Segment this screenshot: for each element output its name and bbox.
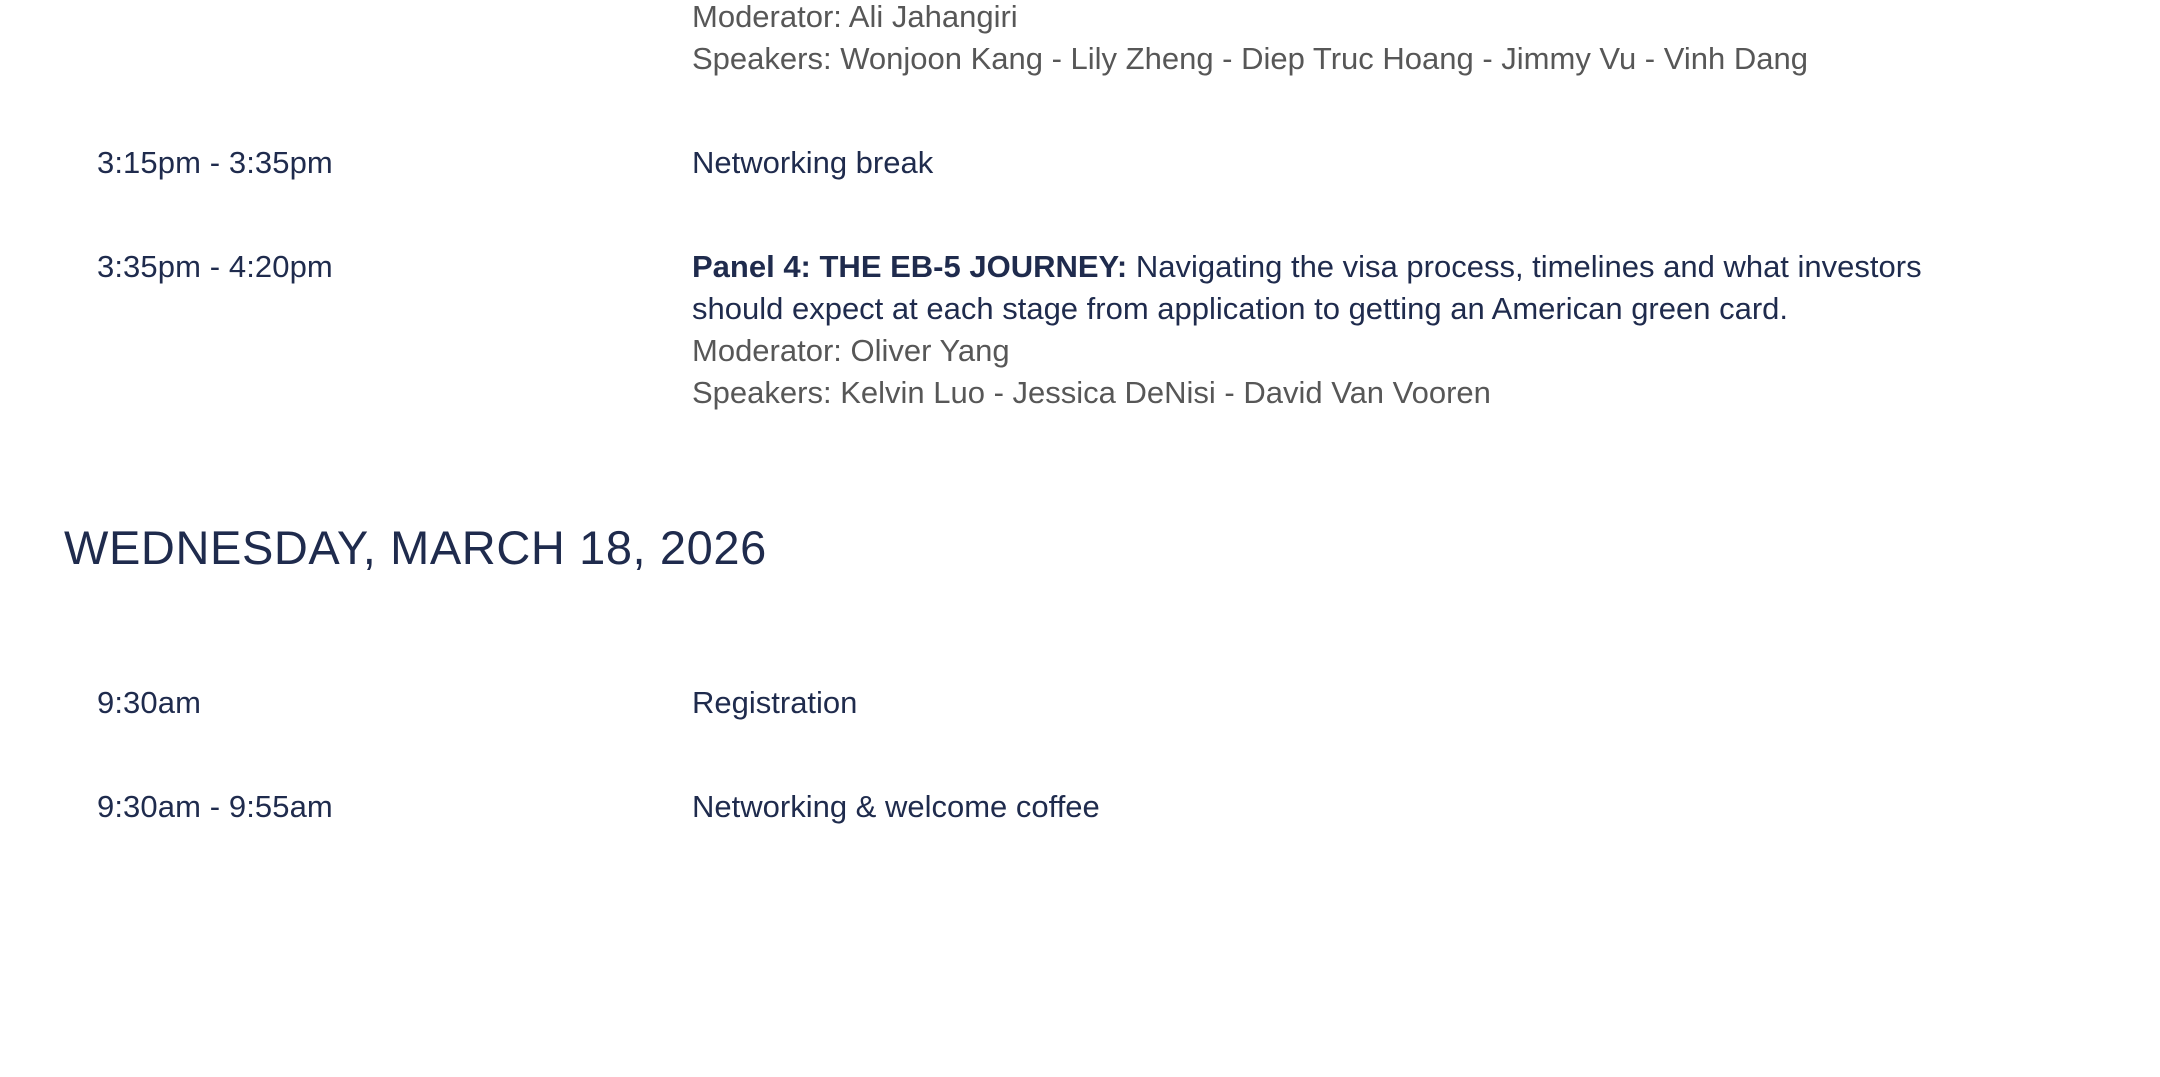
moderator-line: Moderator: Oliver Yang xyxy=(692,330,2002,372)
spacer xyxy=(0,184,2160,246)
session-title: Registration xyxy=(692,685,857,720)
session-title: Networking break xyxy=(692,145,933,180)
session-content: Panel 4: THE EB-5 JOURNEY: Navigating th… xyxy=(692,246,2002,414)
spacer xyxy=(0,80,2160,142)
session-row-welcome-coffee: 9:30am - 9:55am Networking & welcome cof… xyxy=(0,786,2160,828)
moderator-line: Moderator: Ali Jahangiri xyxy=(692,0,2002,38)
day-heading: WEDNESDAY, MARCH 18, 2026 xyxy=(0,518,2160,578)
session-description-block: Panel 4: THE EB-5 JOURNEY: Navigating th… xyxy=(692,246,2002,330)
session-time: 3:35pm - 4:20pm xyxy=(97,246,692,414)
session-time: 9:30am - 9:55am xyxy=(97,786,692,828)
spacer xyxy=(0,578,2160,682)
speakers-line: Speakers: Wonjoon Kang - Lily Zheng - Di… xyxy=(692,38,2002,80)
session-row-panel-4: 3:35pm - 4:20pm Panel 4: THE EB-5 JOURNE… xyxy=(0,246,2160,414)
session-time: 9:30am xyxy=(97,682,692,724)
session-title: Networking & welcome coffee xyxy=(692,789,1100,824)
session-content: Networking break xyxy=(692,142,2002,184)
panel-label: Panel 4: THE EB-5 JOURNEY: xyxy=(692,249,1127,284)
agenda-page: Moderator: Ali Jahangiri Speakers: Wonjo… xyxy=(0,0,2160,1077)
session-content: Registration xyxy=(692,682,2002,724)
session-row-registration: 9:30am Registration xyxy=(0,682,2160,724)
session-row-continuation: Moderator: Ali Jahangiri Speakers: Wonjo… xyxy=(0,0,2160,80)
session-time: 3:15pm - 3:35pm xyxy=(97,142,692,184)
session-row-networking-break: 3:15pm - 3:35pm Networking break xyxy=(0,142,2160,184)
speakers-line: Speakers: Kelvin Luo - Jessica DeNisi - … xyxy=(692,372,2002,414)
spacer xyxy=(0,724,2160,786)
spacer xyxy=(0,414,2160,518)
session-content: Networking & welcome coffee xyxy=(692,786,2002,828)
session-content-continuation: Moderator: Ali Jahangiri Speakers: Wonjo… xyxy=(692,0,2002,80)
session-time-empty xyxy=(97,0,692,80)
